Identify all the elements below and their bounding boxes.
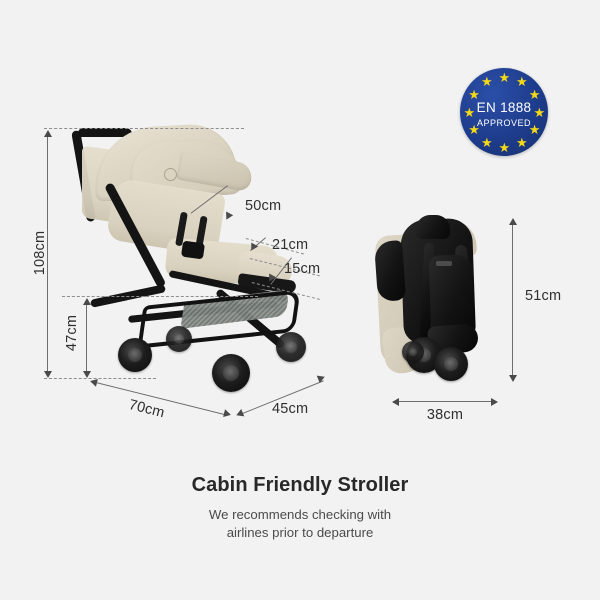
stroller-rear-wheel — [118, 338, 152, 372]
stroller-front-wheel — [212, 354, 250, 392]
dimension-label-70cm: 70cm — [127, 397, 166, 421]
arrowhead-up-51 — [509, 218, 517, 225]
product-dimension-diagram: ★ ★ ★ ★ ★ ★ ★ ★ ★ ★ ★ ★ EN 1888 APPROVED — [0, 0, 600, 600]
eu-star-icon: ★ — [529, 89, 540, 100]
arrowhead-down-47 — [83, 371, 91, 378]
wheel-hub — [128, 348, 142, 362]
folded-stroller-illustration — [372, 215, 492, 385]
wheel-hub — [223, 365, 239, 381]
folded-brand-label — [436, 261, 452, 266]
unfolded-stroller-illustration — [70, 120, 320, 400]
dimension-line-51 — [512, 224, 513, 376]
arrowhead-right-45 — [317, 373, 326, 383]
stroller-harness-buckle — [181, 241, 205, 260]
wheel-hub — [409, 348, 417, 356]
folded-side-arm — [374, 240, 406, 302]
arrowhead-down-51 — [509, 375, 517, 382]
eu-star-icon: ★ — [499, 142, 510, 153]
caption-title: Cabin Friendly Stroller — [0, 474, 600, 497]
guide-line-top-47 — [62, 296, 258, 297]
eu-star-icon: ★ — [516, 76, 527, 87]
dimension-label-108cm: 108cm — [32, 223, 48, 283]
arrowhead-down-108 — [44, 371, 52, 378]
wheel-hub — [285, 341, 297, 353]
dimension-label-21cm: 21cm — [272, 237, 308, 253]
dimension-label-51cm: 51cm — [525, 288, 561, 304]
dimension-label-47cm: 47cm — [64, 303, 80, 363]
arrowhead-up-47 — [83, 298, 91, 305]
wheel-hub — [174, 334, 184, 344]
dimension-label-50cm: 50cm — [245, 198, 281, 214]
eu-star-icon: ★ — [516, 137, 527, 148]
dimension-line-38 — [398, 401, 492, 402]
arrowhead-left-45 — [235, 409, 244, 419]
stroller-brand-emblem — [164, 168, 177, 181]
guide-line-bottom-108 — [44, 378, 156, 379]
arrowhead-right-38 — [491, 398, 498, 406]
arrowhead-left-38 — [392, 398, 399, 406]
eu-star-icon: ★ — [468, 89, 479, 100]
eu-star-icon: ★ — [481, 76, 492, 87]
dimension-line-47 — [86, 300, 87, 374]
badge-standard-text: EN 1888 — [460, 100, 548, 115]
caption-subtitle-line-2: airlines prior to departure — [0, 524, 600, 542]
eu-star-icon: ★ — [499, 72, 510, 83]
dimension-label-45cm: 45cm — [272, 401, 308, 417]
wheel-hub — [444, 357, 458, 371]
guide-line-top-108 — [44, 128, 244, 129]
dimension-label-38cm: 38cm — [398, 407, 492, 423]
stroller-rear-wheel-far — [166, 326, 192, 352]
caption-block: Cabin Friendly Stroller We recommends ch… — [0, 474, 600, 542]
caption-subtitle-line-1: We recommends checking with — [0, 506, 600, 524]
badge-approved-text: APPROVED — [460, 118, 548, 128]
stroller-front-wheel-far — [276, 332, 306, 362]
folded-wheel-far — [402, 341, 424, 363]
folded-wheel-front — [434, 347, 468, 381]
eu-star-icon: ★ — [481, 137, 492, 148]
folded-handle — [416, 215, 450, 239]
dimension-label-15cm: 15cm — [284, 261, 320, 277]
arrowhead-right-70 — [223, 409, 232, 418]
arrowhead-up-108 — [44, 130, 52, 137]
en-1888-approved-badge: ★ ★ ★ ★ ★ ★ ★ ★ ★ ★ ★ ★ EN 1888 APPROVED — [460, 68, 548, 156]
